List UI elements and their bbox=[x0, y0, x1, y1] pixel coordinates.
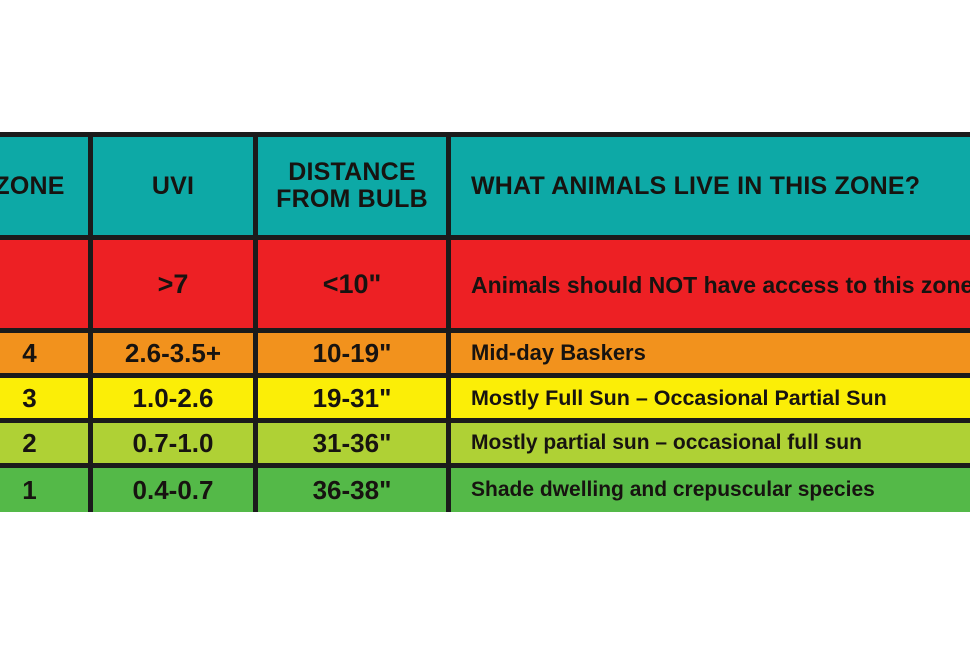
table-row-zone-2: 2 0.7-1.0 31-36" Mostly partial sun – oc… bbox=[0, 423, 970, 463]
column-header-distance-line1: DISTANCE bbox=[288, 158, 416, 186]
column-header-distance: DISTANCE FROM BULB bbox=[258, 137, 446, 235]
cell-zone-4: 4 bbox=[0, 333, 88, 373]
cell-uvi-4: 2.6-3.5+ bbox=[93, 333, 253, 373]
table-row-zone-1: 1 0.4-0.7 36-38" Shade dwelling and crep… bbox=[0, 468, 970, 512]
table-row-danger-zone: >7 <10" Animals should NOT have access t… bbox=[0, 240, 970, 328]
cell-animals-2: Mostly partial sun – occasional full sun bbox=[451, 423, 970, 463]
cell-uvi-1: 0.4-0.7 bbox=[93, 468, 253, 512]
table-body: >7 <10" Animals should NOT have access t… bbox=[0, 240, 970, 512]
table-header: ZONE UVI DISTANCE FROM BULB WHAT ANIMALS… bbox=[0, 137, 970, 235]
cell-uvi-3: 1.0-2.6 bbox=[93, 378, 253, 418]
cell-distance-3: 19-31" bbox=[258, 378, 446, 418]
cell-animals-danger: Animals should NOT have access to this z… bbox=[451, 240, 970, 328]
cell-animals-4: Mid-day Baskers bbox=[451, 333, 970, 373]
column-header-zone: ZONE bbox=[0, 137, 88, 235]
column-header-animals: WHAT ANIMALS LIVE IN THIS ZONE? bbox=[451, 137, 970, 235]
page-canvas: ZONE UVI DISTANCE FROM BULB WHAT ANIMALS… bbox=[0, 0, 970, 648]
cell-zone-danger bbox=[0, 240, 88, 328]
cell-distance-1: 36-38" bbox=[258, 468, 446, 512]
cell-zone-3: 3 bbox=[0, 378, 88, 418]
column-header-uvi: UVI bbox=[93, 137, 253, 235]
cell-uvi-danger: >7 bbox=[93, 240, 253, 328]
cell-distance-4: 10-19" bbox=[258, 333, 446, 373]
uvi-zone-chart: ZONE UVI DISTANCE FROM BULB WHAT ANIMALS… bbox=[0, 132, 970, 512]
cell-distance-danger: <10" bbox=[258, 240, 446, 328]
table-header-row: ZONE UVI DISTANCE FROM BULB WHAT ANIMALS… bbox=[0, 137, 970, 235]
table-row-zone-4: 4 2.6-3.5+ 10-19" Mid-day Baskers bbox=[0, 333, 970, 373]
column-header-distance-line2: FROM BULB bbox=[276, 185, 428, 213]
cell-zone-2: 2 bbox=[0, 423, 88, 463]
cell-animals-3: Mostly Full Sun – Occasional Partial Sun bbox=[451, 378, 970, 418]
cell-uvi-2: 0.7-1.0 bbox=[93, 423, 253, 463]
cell-animals-1: Shade dwelling and crepuscular species bbox=[451, 468, 970, 512]
cell-zone-1: 1 bbox=[0, 468, 88, 512]
table-row-zone-3: 3 1.0-2.6 19-31" Mostly Full Sun – Occas… bbox=[0, 378, 970, 418]
cell-distance-2: 31-36" bbox=[258, 423, 446, 463]
uvi-zone-table: ZONE UVI DISTANCE FROM BULB WHAT ANIMALS… bbox=[0, 132, 970, 512]
